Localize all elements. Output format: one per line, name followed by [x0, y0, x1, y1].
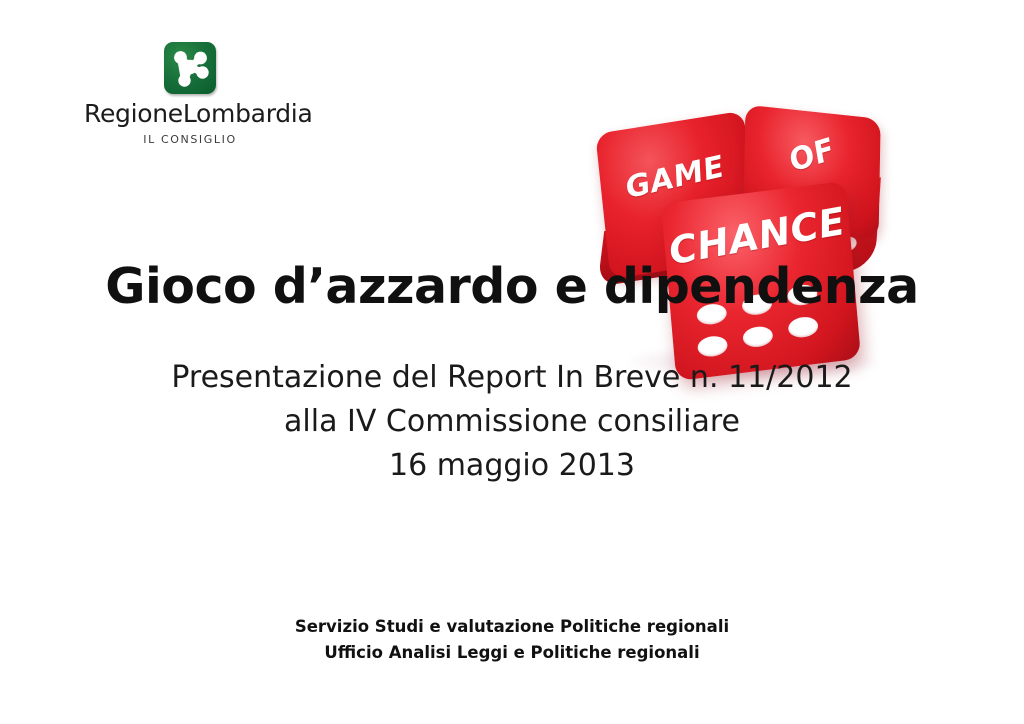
subtitle-line: 16 maggio 2013: [0, 444, 1024, 488]
footer-line: Ufficio Analisi Leggi e Politiche region…: [0, 640, 1024, 666]
presentation-title-slide: RegioneLombardia IL CONSIGLIO GAME OF CH…: [0, 0, 1024, 724]
footer-line: Servizio Studi e valutazione Politiche r…: [0, 614, 1024, 640]
subtitle-line: Presentazione del Report In Breve n. 11/…: [0, 356, 1024, 400]
slide-subtitle: Presentazione del Report In Breve n. 11/…: [0, 356, 1024, 488]
logo-subtitle: IL CONSIGLIO: [84, 133, 296, 146]
slide-footer: Servizio Studi e valutazione Politiche r…: [0, 614, 1024, 666]
logo-wordmark: RegioneLombardia: [84, 100, 296, 127]
die-pip: [742, 325, 774, 349]
rosa-camuna-icon: [164, 42, 216, 94]
die-pip: [697, 335, 729, 359]
game-of-chance-dice-image: GAME OF CHANCE: [586, 100, 916, 385]
die-of-label: OF: [743, 119, 882, 191]
slide-title: Gioco d’azzardo e dipendenza: [0, 258, 1024, 315]
die-pip: [787, 315, 819, 339]
subtitle-line: alla IV Commissione consiliare: [0, 400, 1024, 444]
regione-lombardia-logo: RegioneLombardia IL CONSIGLIO: [84, 42, 296, 146]
